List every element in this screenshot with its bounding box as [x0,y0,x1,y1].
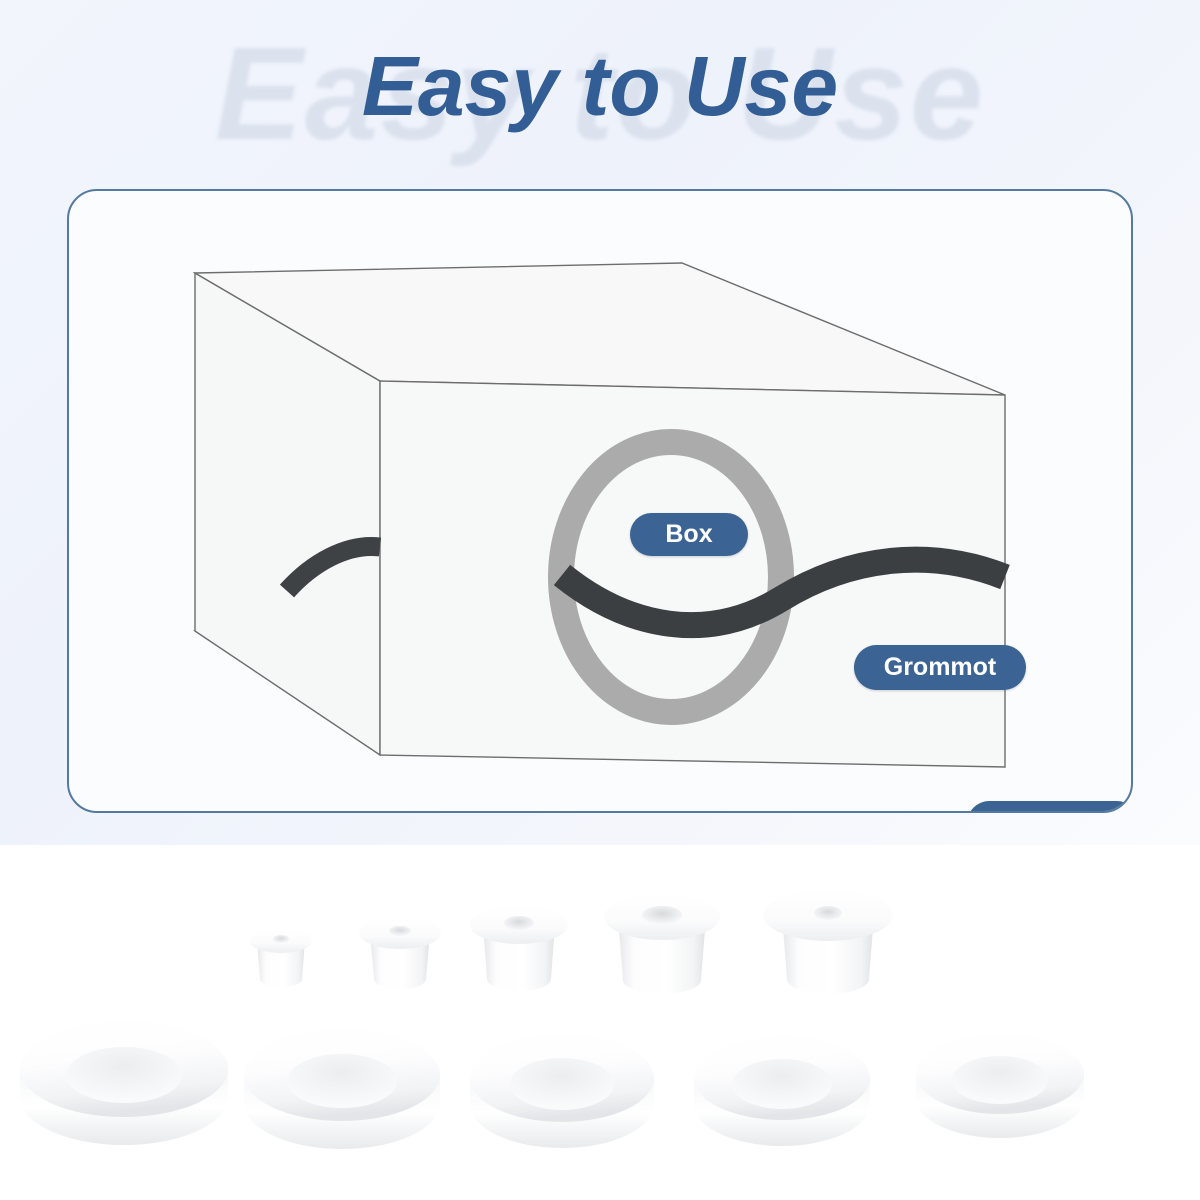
page-title: Easy to Use [0,38,1200,135]
product-showcase [0,845,1200,1200]
box-diagram-svg [69,191,1133,813]
label-pill-box-text: Box [665,522,712,547]
product-grommets-svg [0,845,1200,1200]
product-grommet-l4 [694,1036,870,1146]
product-grommet-l1 [20,1021,228,1145]
label-pill-grommot: Grommot [854,645,1026,690]
product-grommet-s3 [470,906,568,991]
product-grommet-s4 [604,894,720,994]
product-grommet-s2 [359,917,441,989]
product-grommet-s1 [250,929,312,987]
label-pill-cable-wire-text: Cable/Wire [989,811,1118,813]
label-pill-box: Box [630,513,748,556]
page-title-block: Easy to Use Easy to Use [0,0,1200,185]
diagram-card: Box Grommot Cable/Wire [67,189,1133,813]
product-grommet-l3 [470,1034,654,1148]
label-pill-grommot-text: Grommot [884,655,997,680]
product-grommet-s5 [763,889,893,994]
product-grommet-l2 [244,1029,440,1149]
product-grommet-l5 [916,1034,1084,1138]
label-pill-cable-wire: Cable/Wire [967,801,1133,813]
